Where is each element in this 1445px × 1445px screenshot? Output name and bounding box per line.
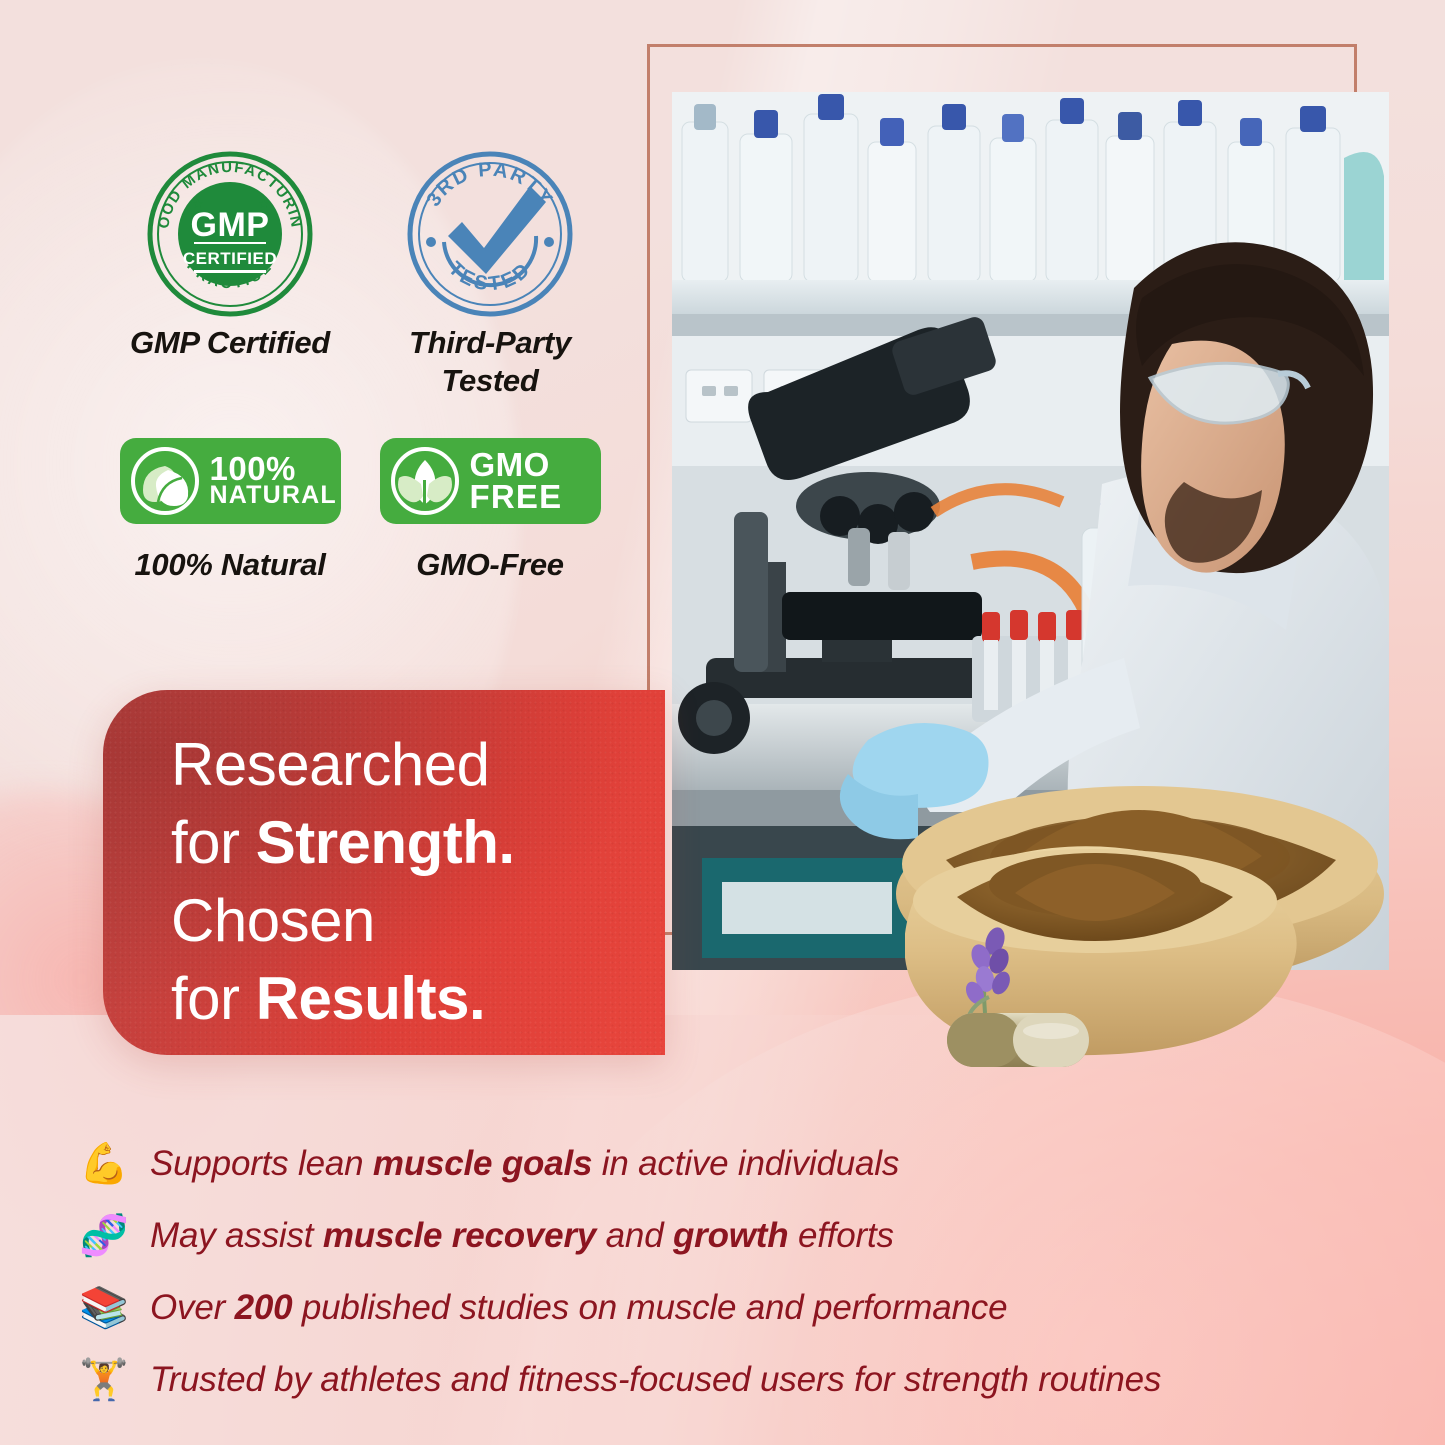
- gmo-free-pill-badge-icon: GMO FREE: [380, 432, 601, 530]
- bullet-text-1: Supports lean muscle goals in active ind…: [150, 1144, 899, 1184]
- bullet-3-part-2: 200: [235, 1288, 293, 1327]
- bullet-text-2: May assist muscle recovery and growth ef…: [150, 1216, 894, 1256]
- bullet-2-part-3: and: [596, 1216, 673, 1255]
- banner-line-1: Researched: [171, 726, 647, 804]
- bullet-4-part-1: Trusted by athletes and fitness-focused …: [150, 1360, 1161, 1399]
- gmp-certified-seal-icon: GOOD MANUFACTURING PRACTICE ★ ★ GMP CERT…: [146, 148, 314, 320]
- bullet-3-part-3: published studies on muscle and performa…: [292, 1288, 1007, 1327]
- badge-third-party-tested: 3RD PARTY TESTED Third-Party Tested: [360, 148, 620, 400]
- badge-row-top: GOOD MANUFACTURING PRACTICE ★ ★ GMP CERT…: [100, 148, 620, 400]
- badge-label-gmo-free: GMO-Free: [416, 546, 563, 584]
- sprout-icon: [388, 444, 462, 518]
- bullet-2-part-2: muscle recovery: [323, 1216, 596, 1255]
- flexed-biceps-emoji: 💪: [78, 1144, 130, 1184]
- benefit-bullets: 💪 Supports lean muscle goals in active i…: [78, 1128, 1418, 1416]
- banner-line-4: for Results.: [171, 960, 647, 1038]
- headline-banner: Researched for Strength. Chosen for Resu…: [103, 690, 665, 1055]
- bullet-1-part-1: Supports lean: [150, 1144, 373, 1183]
- banner-line-3: Chosen: [171, 882, 647, 960]
- third-party-tested-seal-icon: 3RD PARTY TESTED: [406, 148, 574, 320]
- banner-line-2: for Strength.: [171, 804, 647, 882]
- bullet-text-4: Trusted by athletes and fitness-focused …: [150, 1360, 1161, 1400]
- pill-text-natural: NATURAL: [210, 484, 337, 508]
- pill-text-100: 100%: [210, 453, 337, 484]
- dna-emoji: 🧬: [78, 1216, 130, 1256]
- banner-headline: Researched for Strength. Chosen for Resu…: [171, 726, 647, 1038]
- bullet-text-3: Over 200 published studies on muscle and…: [150, 1288, 1007, 1328]
- badge-label-gmp: GMP Certified: [130, 324, 330, 362]
- banner-line-2-bold: Strength.: [256, 809, 515, 876]
- svg-text:GMP: GMP: [191, 206, 270, 244]
- banner-line-4-plain: for: [171, 965, 256, 1032]
- leaf-icon: [128, 444, 202, 518]
- product-infographic-canvas: GOOD MANUFACTURING PRACTICE ★ ★ GMP CERT…: [0, 0, 1445, 1445]
- badge-label-natural: 100% Natural: [134, 546, 325, 584]
- banner-line-3-text: Chosen: [171, 887, 375, 954]
- bullet-2-part-1: May assist: [150, 1216, 323, 1255]
- list-item: 💪 Supports lean muscle goals in active i…: [78, 1128, 1418, 1200]
- bullet-1-part-2: muscle goals: [373, 1144, 592, 1183]
- banner-line-2-plain: for: [171, 809, 256, 876]
- bullet-1-part-3: in active individuals: [592, 1144, 899, 1183]
- badge-label-third-party: Third-Party Tested: [360, 324, 620, 400]
- svg-text:CERTIFIED: CERTIFIED: [183, 249, 277, 268]
- badge-gmp-certified: GOOD MANUFACTURING PRACTICE ★ ★ GMP CERT…: [100, 148, 360, 400]
- bullet-3-part-1: Over: [150, 1288, 235, 1327]
- badge-100-natural: 100% NATURAL 100% Natural: [100, 432, 360, 584]
- pill-text-free: FREE: [470, 481, 563, 512]
- list-item: 📚 Over 200 published studies on muscle a…: [78, 1272, 1418, 1344]
- pill-text-gmo: GMO: [470, 449, 563, 480]
- banner-line-4-bold: Results.: [256, 965, 485, 1032]
- trust-badge-grid: GOOD MANUFACTURING PRACTICE ★ ★ GMP CERT…: [100, 148, 620, 583]
- natural-pill-badge-icon: 100% NATURAL: [120, 432, 341, 530]
- bullet-2-part-5: efforts: [788, 1216, 893, 1255]
- list-item: 🧬 May assist muscle recovery and growth …: [78, 1200, 1418, 1272]
- banner-line-1-text: Researched: [171, 731, 490, 798]
- badge-row-bottom: 100% NATURAL 100% Natural: [100, 432, 620, 584]
- bullet-2-part-4: growth: [673, 1216, 788, 1255]
- badge-gmo-free: GMO FREE GMO-Free: [360, 432, 620, 584]
- books-emoji: 📚: [78, 1288, 130, 1328]
- person-lifting-weights-emoji: 🏋️: [78, 1360, 130, 1400]
- list-item: 🏋️ Trusted by athletes and fitness-focus…: [78, 1344, 1418, 1416]
- powder-bowl-overlay: [905, 835, 1395, 1085]
